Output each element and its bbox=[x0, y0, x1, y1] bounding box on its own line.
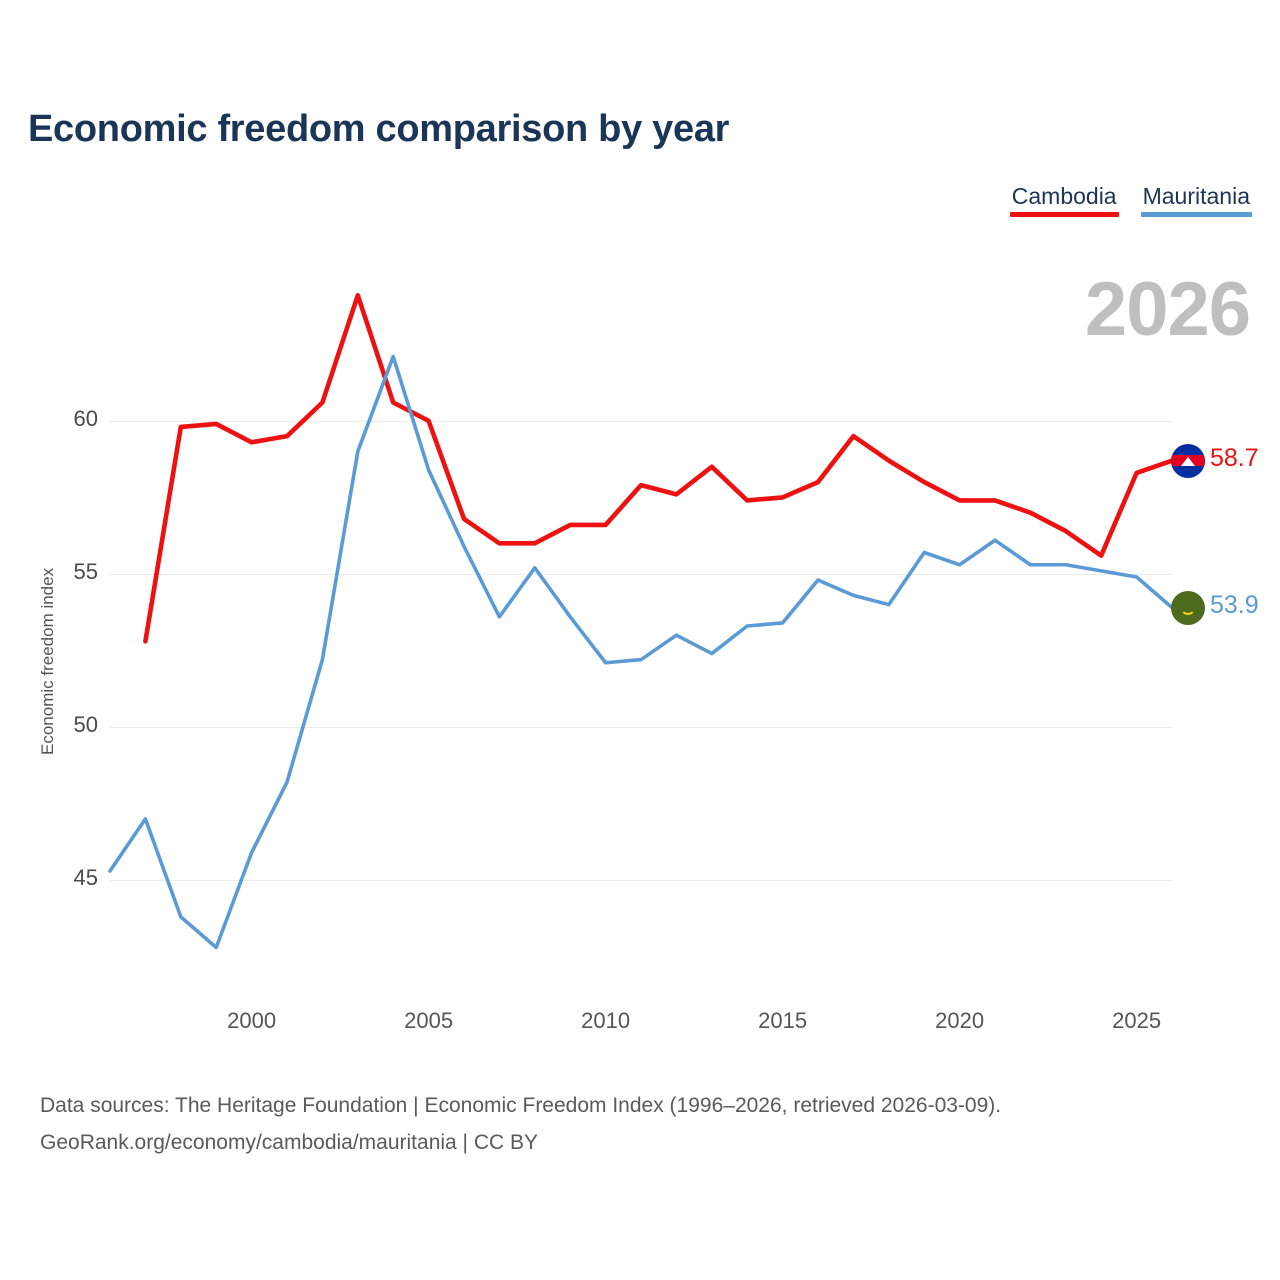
chart-page: Economic freedom comparison by year Camb… bbox=[0, 0, 1280, 1280]
footer-line-1: Data sources: The Heritage Foundation | … bbox=[40, 1088, 1001, 1125]
footer-attribution: Data sources: The Heritage Foundation | … bbox=[40, 1088, 1001, 1162]
cambodia-flag-icon bbox=[1171, 444, 1205, 478]
end-value-cambodia: 58.7 bbox=[1210, 444, 1259, 473]
mauritania-flag-icon bbox=[1171, 591, 1205, 625]
series-line-mauritania bbox=[110, 357, 1172, 948]
footer-line-2: GeoRank.org/economy/cambodia/mauritania … bbox=[40, 1125, 1001, 1162]
end-value-mauritania: 53.9 bbox=[1210, 591, 1259, 620]
series-line-cambodia bbox=[145, 295, 1172, 641]
